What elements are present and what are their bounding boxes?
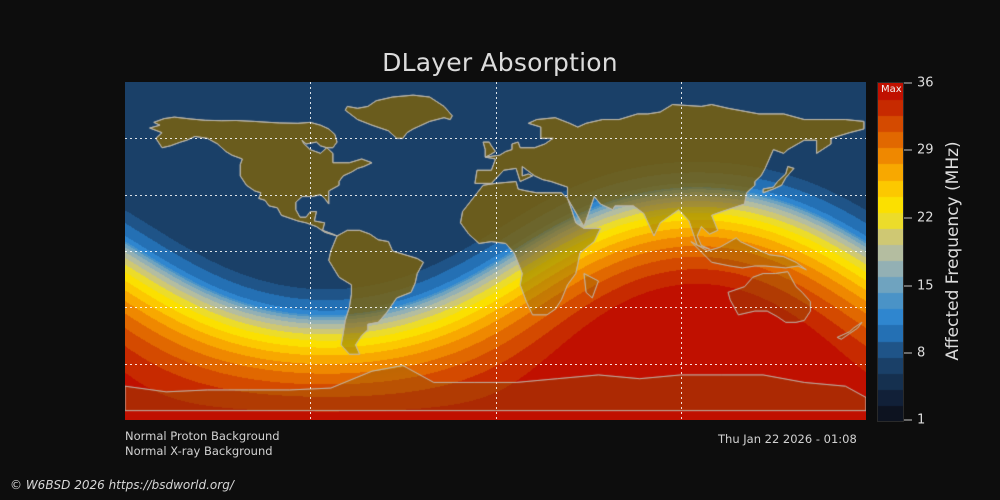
colorbar-tick-36: 36 (904, 76, 934, 91)
colorbar-tick-1: 1 (904, 413, 925, 428)
colorbar-axis-label: Affected Frequency (MHz) (941, 82, 966, 420)
tick-mark (904, 218, 912, 219)
copyright-label: © W6BSD 2026 https://bsdworld.org/ (10, 478, 234, 492)
tick-mark (904, 83, 912, 84)
world-absorption-map (125, 82, 866, 420)
tick-mark (904, 150, 912, 151)
colorbar-gradient (878, 83, 903, 421)
colorbar-tick-label: 8 (917, 346, 925, 361)
colorbar-tick-label: 22 (917, 211, 934, 226)
dlayer-absorption-figure: DLayer Absorption Max 36 29 22 15 8 1 Af… (0, 0, 1000, 500)
xray-background-note: Normal X-ray Background (125, 444, 280, 459)
colorbar (877, 82, 904, 422)
colorbar-tick-label: 29 (917, 143, 934, 158)
colorbar-tick-label: 1 (917, 413, 925, 428)
colorbar-tick-8: 8 (904, 346, 925, 361)
tick-mark (904, 286, 912, 287)
page-title: DLayer Absorption (0, 48, 1000, 77)
proton-background-note: Normal Proton Background (125, 429, 280, 444)
colorbar-max-label: Max (879, 83, 904, 96)
tick-mark (904, 353, 912, 354)
colorbar-tick-label: 15 (917, 279, 934, 294)
tick-mark (904, 420, 912, 421)
colorbar-tick-22: 22 (904, 211, 934, 226)
colorbar-tick-label: 36 (917, 76, 934, 91)
colorbar-tick-15: 15 (904, 279, 934, 294)
background-notes: Normal Proton Background Normal X-ray Ba… (125, 429, 280, 459)
colorbar-tick-29: 29 (904, 143, 934, 158)
absorption-heatmap-canvas (125, 82, 866, 420)
timestamp-label: Thu Jan 22 2026 - 01:08 (718, 432, 857, 446)
